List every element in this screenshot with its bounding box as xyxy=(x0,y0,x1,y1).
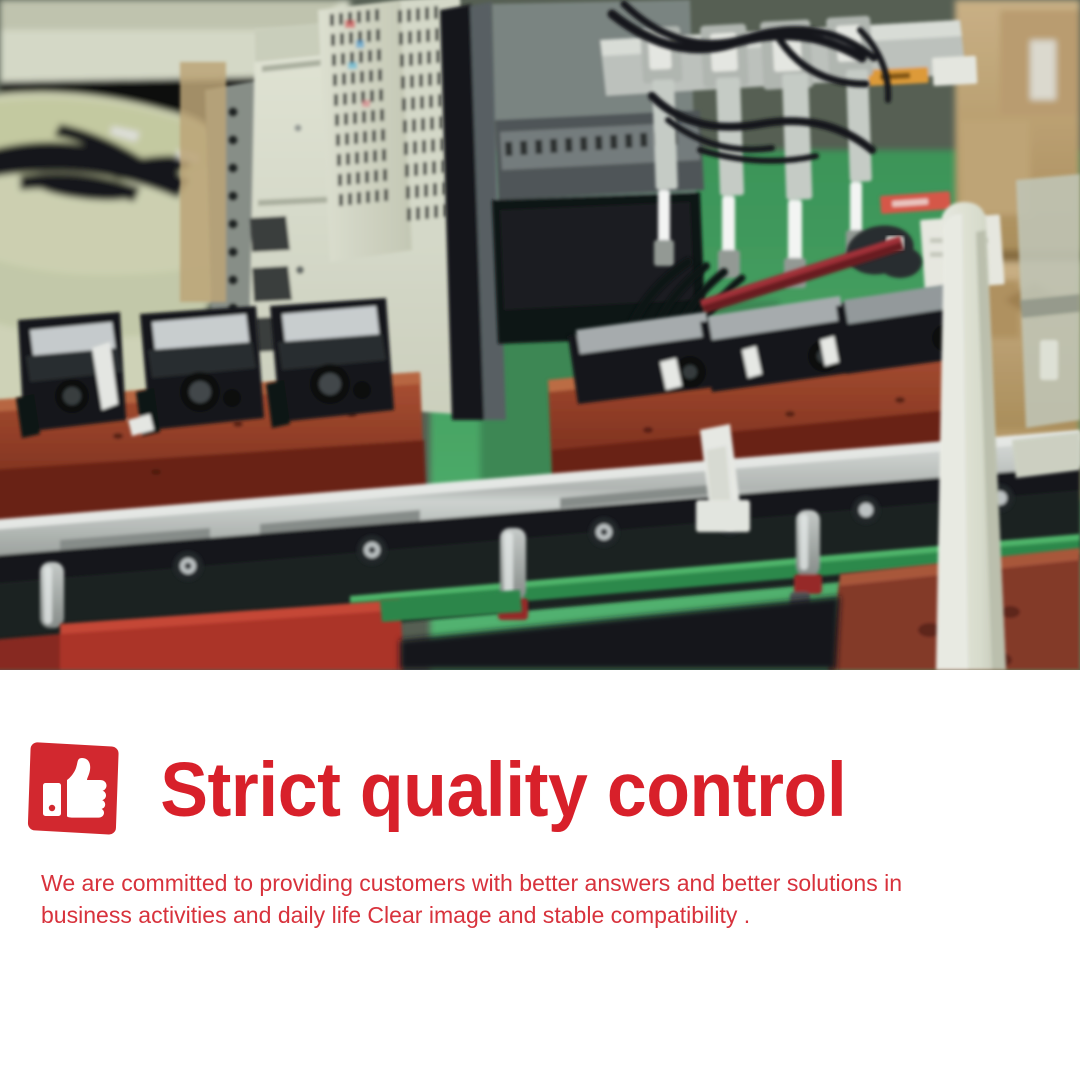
factory-assembly-line-photo xyxy=(0,0,1080,670)
quality-control-slide: Strict quality control We are committed … xyxy=(0,0,1080,1080)
page-title: Strict quality control xyxy=(123,752,846,829)
description-text: We are committed to providing customers … xyxy=(41,867,952,931)
thumbs-up-icon-svg xyxy=(27,738,123,838)
thumbs-up-icon xyxy=(27,738,123,838)
factory-photo-illustration xyxy=(0,0,1080,670)
headline-row: Strict quality control xyxy=(27,738,901,838)
caption-block: Strict quality control We are committed … xyxy=(0,670,1080,1080)
